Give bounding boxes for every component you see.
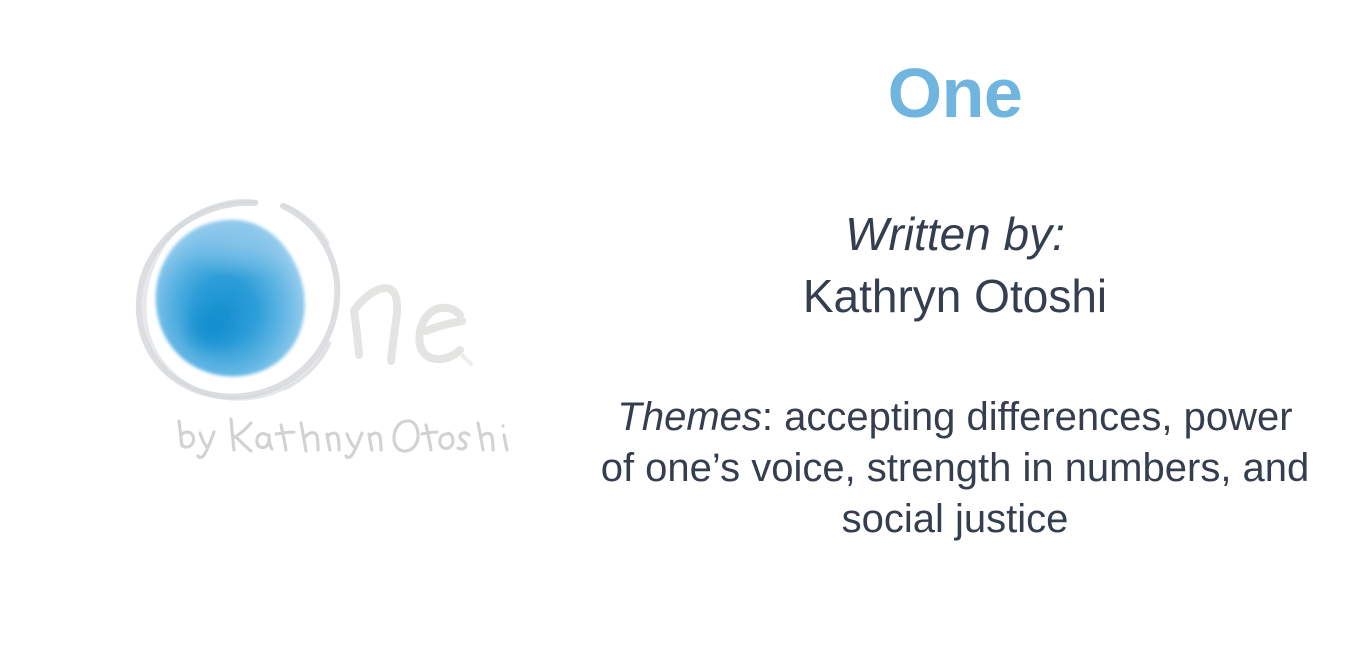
themes-label: Themes (617, 395, 762, 439)
author-name: Kathryn Otoshi (600, 265, 1310, 327)
cover-watercolor-blob-icon (153, 217, 311, 379)
book-cover-image (125, 185, 495, 475)
themes-colon: : (762, 395, 773, 439)
cover-byline-handwriting-icon (173, 413, 473, 461)
themes-block: Themes: accepting differences, power of … (600, 392, 1310, 545)
cover-letters-ne-icon (340, 263, 485, 383)
written-by-block: Written by: Kathryn Otoshi (600, 203, 1310, 327)
page-title: One (600, 58, 1310, 128)
slide-root: One Written by: Kathryn Otoshi Themes: a… (0, 0, 1350, 649)
text-panel: One Written by: Kathryn Otoshi Themes: a… (600, 0, 1310, 649)
written-by-label: Written by: (600, 203, 1310, 265)
book-cover-panel (0, 0, 640, 649)
